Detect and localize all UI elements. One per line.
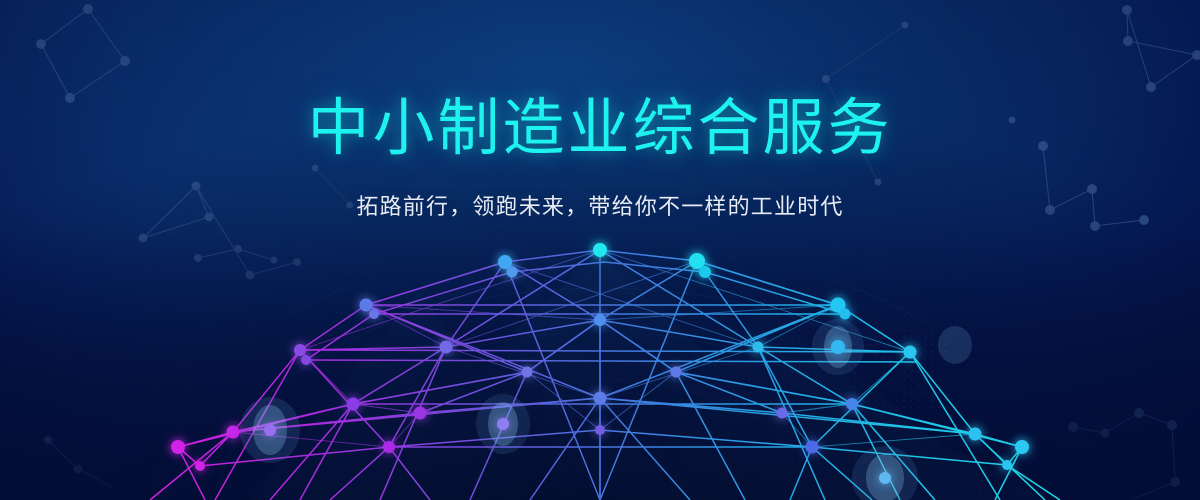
hero-banner: 中小制造业综合服务 拓路前行，领跑未来，带给你不一样的工业时代	[0, 0, 1200, 500]
dome-wireframe-layer	[0, 0, 1200, 500]
